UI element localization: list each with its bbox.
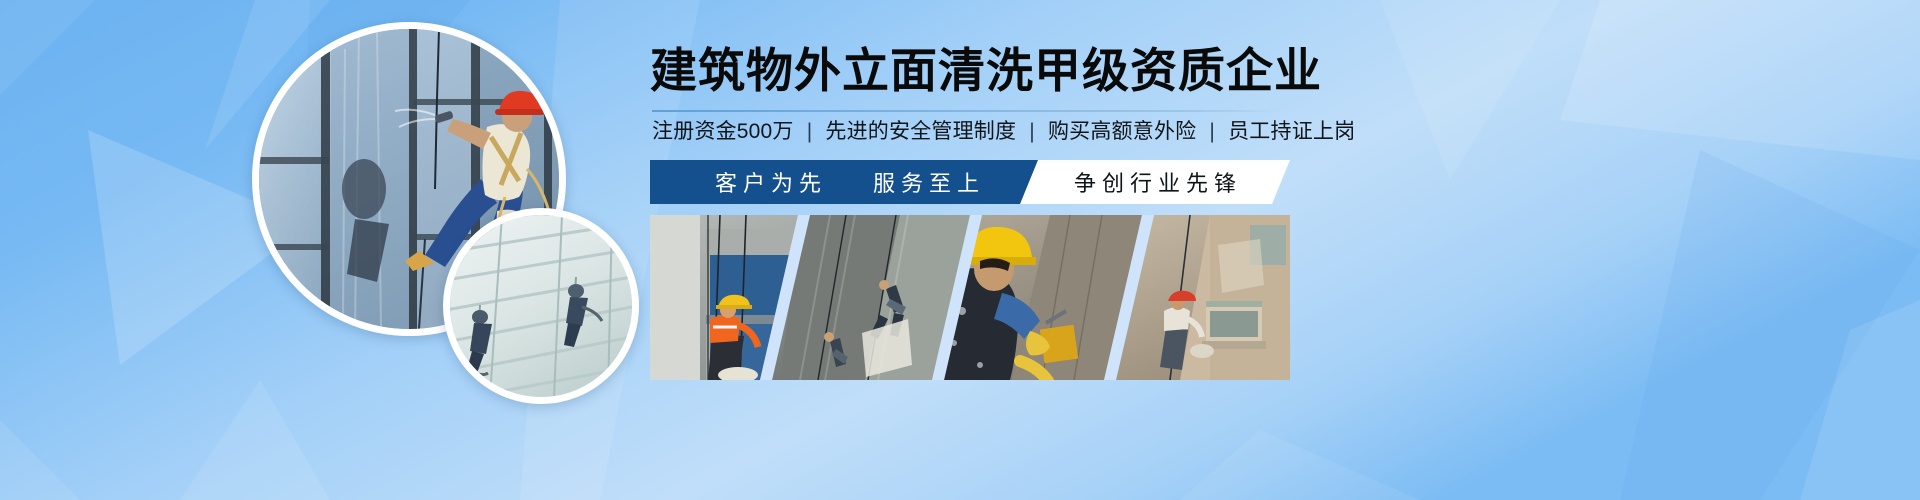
subtitle-separator-1: | [807,120,813,143]
subtitle-item-3: 购买高额意外险 [1048,120,1196,143]
subtitle-separator-2: | [1029,120,1035,143]
slogan-text-3: 争创行业先锋 [1068,166,1242,198]
slogan-ribbon: 客户为先 服务至上 争创行业先锋 [650,160,1290,204]
photo-strip [650,215,1290,380]
banner-subtitle: 注册资金500万 | 先进的安全管理制度 | 购买高额意外险 | 员工持证上岗 [652,121,1355,142]
title-divider [652,110,1284,112]
circle-photo-secondary [443,208,639,404]
subtitle-item-2: 先进的安全管理制度 [825,120,1016,143]
subtitle-item-1: 注册资金500万 [652,120,794,143]
slogan-segment-blue: 客户为先 服务至上 [650,160,1040,204]
subtitle-separator-3: | [1209,120,1215,143]
page-title: 建筑物外立面清洗甲级资质企业 [650,47,1322,94]
subtitle-item-4: 员工持证上岗 [1228,120,1355,143]
slogan-text-2: 服务至上 [873,166,985,198]
promo-banner: 建筑物外立面清洗甲级资质企业 注册资金500万 | 先进的安全管理制度 | 购买… [0,0,1920,500]
slogan-segment-white: 争创行业先锋 [1020,160,1290,204]
slogan-text-1: 客户为先 [715,166,827,198]
banner-content: 建筑物外立面清洗甲级资质企业 注册资金500万 | 先进的安全管理制度 | 购买… [650,0,1920,500]
circle-photo-secondary-image [450,215,632,397]
